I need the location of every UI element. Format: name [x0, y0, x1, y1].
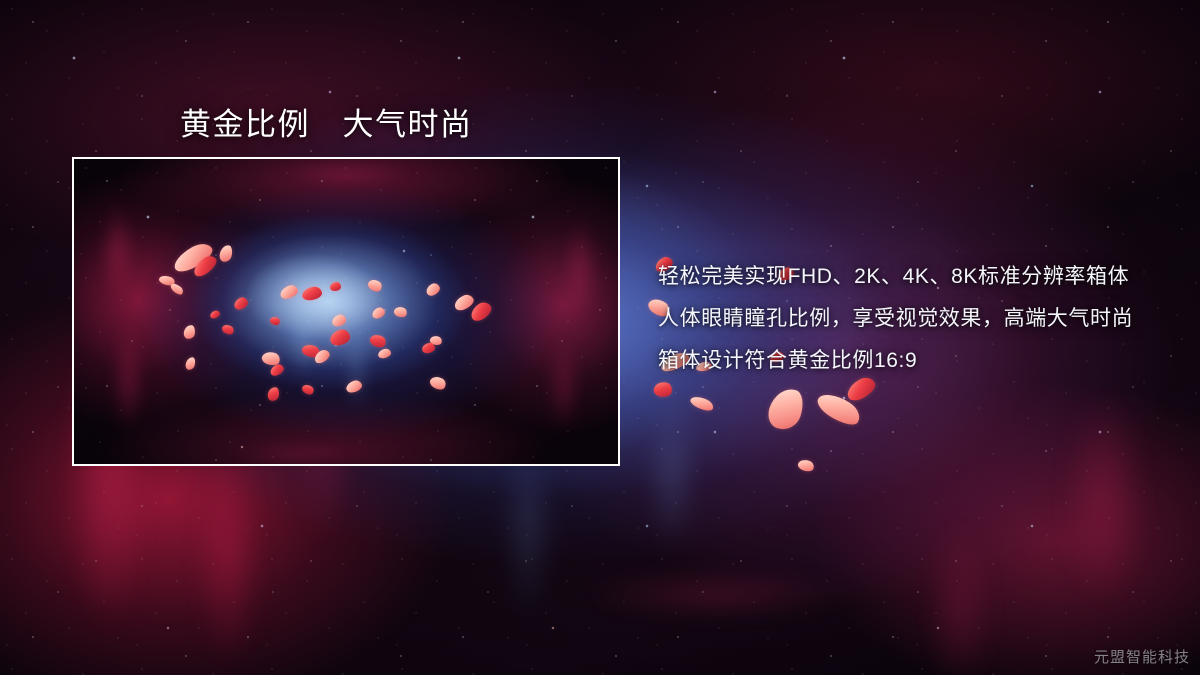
rose-petal: [330, 282, 341, 291]
rose-petal: [764, 384, 807, 434]
body-line-1: 轻松完美实现FHD、2K、4K、8K标准分辨率箱体: [658, 256, 1158, 298]
rose-petal: [269, 363, 286, 378]
framed-image-stars-small: [74, 159, 618, 464]
rose-petal: [368, 332, 388, 350]
rose-petal: [190, 253, 219, 280]
rose-petal: [428, 374, 448, 392]
rose-petal: [221, 323, 236, 337]
rose-petal: [377, 348, 391, 359]
rose-petal: [424, 281, 441, 297]
rose-petal: [797, 458, 816, 474]
company-watermark: 元盟智能科技: [1094, 646, 1190, 667]
rose-petal: [260, 350, 281, 368]
framed-image-nebula: [74, 159, 618, 464]
framed-image-filaments: [74, 159, 618, 464]
rose-petal: [393, 305, 409, 319]
body-line-3: 箱体设计符合黄金比例16:9: [658, 340, 1158, 382]
framed-product-image: [72, 157, 620, 466]
framed-image-stars-lg: [74, 159, 618, 464]
rose-petal: [331, 313, 347, 327]
rose-petal: [452, 292, 476, 312]
rose-petal: [345, 379, 363, 394]
rose-petal: [209, 310, 221, 320]
rose-petal: [301, 382, 316, 396]
rose-petal: [371, 306, 387, 320]
rose-petal: [185, 356, 197, 371]
rose-petal: [653, 380, 674, 398]
rose-petal: [300, 342, 321, 360]
rose-petal: [170, 239, 216, 275]
body-line-2: 人体眼睛瞳孔比例，享受视觉效果，高端大气时尚: [658, 298, 1158, 340]
rose-petal: [301, 286, 323, 302]
framed-image-stars-med: [74, 159, 618, 464]
body-text-block: 轻松完美实现FHD、2K、4K、8K标准分辨率箱体 人体眼睛瞳孔比例，享受视觉效…: [658, 256, 1158, 382]
rose-petal: [421, 342, 435, 354]
rose-petal: [814, 387, 865, 430]
rose-petal: [689, 394, 715, 414]
rose-petal: [366, 277, 384, 294]
rose-petal: [468, 299, 495, 323]
page-title: 黄金比例 大气时尚: [180, 99, 473, 144]
rose-petal: [267, 386, 280, 402]
rose-petal: [232, 296, 249, 311]
rose-petal: [269, 315, 281, 326]
rose-petal: [279, 284, 300, 301]
rose-petal: [158, 274, 176, 288]
rose-petal: [169, 281, 185, 296]
rose-petal: [218, 244, 233, 263]
rose-petal: [329, 328, 352, 347]
rose-petal: [183, 324, 196, 339]
rose-petal: [429, 335, 443, 347]
presentation-slide: 黄金比例 大气时尚 轻松完美实现FHD、2K、4K、8K标准分辨率箱体 人体眼睛…: [0, 0, 1200, 675]
rose-petal: [312, 348, 331, 366]
